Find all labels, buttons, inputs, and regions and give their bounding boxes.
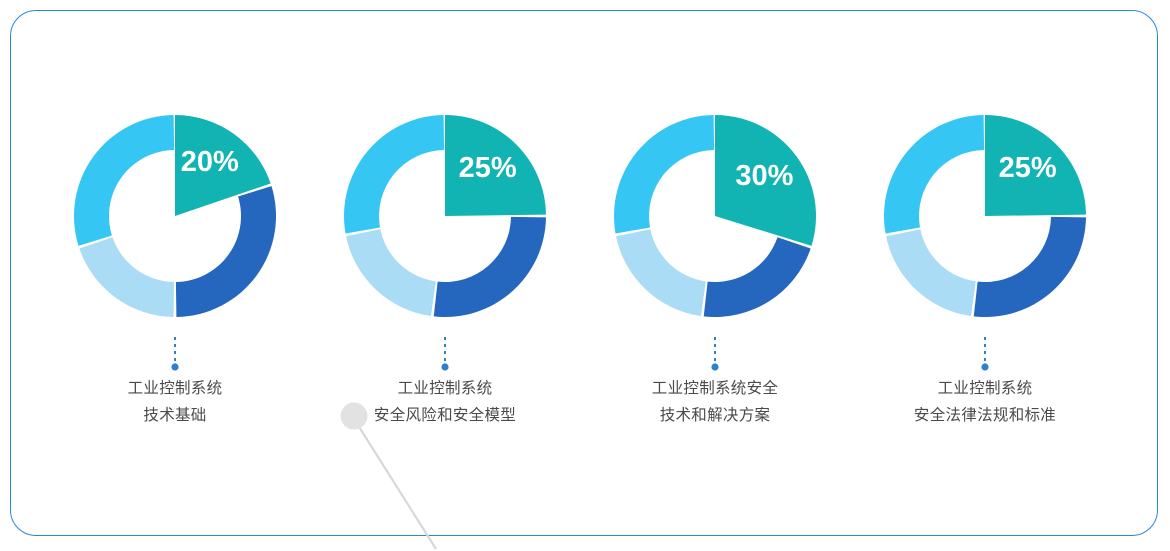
caption-line-2: 安全法律法规和标准 bbox=[855, 403, 1115, 430]
donut-chart-2[interactable]: 25%工业控制系统安全风险和安全模型 bbox=[315, 96, 575, 456]
donut-slice-highlight[interactable] bbox=[715, 115, 816, 246]
donut-slice-dark_blue[interactable] bbox=[704, 237, 811, 317]
donut-charts-row: 20%工业控制系统技术基础25%工业控制系统安全风险和安全模型30%工业控制系统… bbox=[0, 0, 1170, 545]
connector-line bbox=[585, 336, 845, 376]
caption-line-2: 技术和解决方案 bbox=[585, 403, 845, 430]
caption-line-1: 工业控制系统 bbox=[45, 376, 305, 403]
donut-graphic: 20% bbox=[55, 96, 295, 336]
donut-graphic: 25% bbox=[865, 96, 1105, 336]
caption-line-1: 工业控制系统 bbox=[855, 376, 1115, 403]
connector-line bbox=[45, 336, 305, 376]
chart-caption: 工业控制系统技术基础 bbox=[45, 376, 305, 429]
connector-line bbox=[855, 336, 1115, 376]
donut-graphic: 30% bbox=[595, 96, 835, 336]
caption-line-1: 工业控制系统安全 bbox=[585, 376, 845, 403]
donut-chart-1[interactable]: 20%工业控制系统技术基础 bbox=[45, 96, 305, 456]
donut-slice-highlight[interactable] bbox=[985, 115, 1086, 216]
donut-slice-pale_blue[interactable] bbox=[79, 237, 174, 317]
donut-chart-3[interactable]: 30%工业控制系统安全技术和解决方案 bbox=[585, 96, 845, 456]
donut-slice-pale_blue[interactable] bbox=[346, 229, 436, 316]
donut-slice-cyan[interactable] bbox=[74, 115, 174, 246]
donut-slice-pale_blue[interactable] bbox=[616, 229, 706, 316]
donut-chart-4[interactable]: 25%工业控制系统安全法律法规和标准 bbox=[855, 96, 1115, 456]
connector-dot-icon bbox=[441, 363, 448, 370]
connector-line bbox=[315, 336, 575, 376]
chart-caption: 工业控制系统安全风险和安全模型 bbox=[315, 376, 575, 429]
donut-graphic: 25% bbox=[325, 96, 565, 336]
donut-slice-highlight[interactable] bbox=[445, 115, 546, 216]
donut-slice-cyan[interactable] bbox=[614, 115, 714, 234]
connector-dot-icon bbox=[171, 363, 178, 370]
connector-dot-icon bbox=[711, 363, 718, 370]
connector-dot-icon bbox=[981, 363, 988, 370]
infographic-stage: 20%工业控制系统技术基础25%工业控制系统安全风险和安全模型30%工业控制系统… bbox=[0, 0, 1170, 545]
donut-slice-pale_blue[interactable] bbox=[886, 229, 976, 316]
donut-slice-cyan[interactable] bbox=[344, 115, 444, 234]
donut-slice-dark_blue[interactable] bbox=[974, 217, 1086, 317]
chart-caption: 工业控制系统安全技术和解决方案 bbox=[585, 376, 845, 429]
caption-line-1: 工业控制系统 bbox=[315, 376, 575, 403]
caption-line-2: 技术基础 bbox=[45, 403, 305, 430]
chart-caption: 工业控制系统安全法律法规和标准 bbox=[855, 376, 1115, 429]
caption-line-2: 安全风险和安全模型 bbox=[315, 403, 575, 430]
donut-slice-cyan[interactable] bbox=[884, 115, 984, 234]
donut-slice-dark_blue[interactable] bbox=[434, 217, 546, 317]
